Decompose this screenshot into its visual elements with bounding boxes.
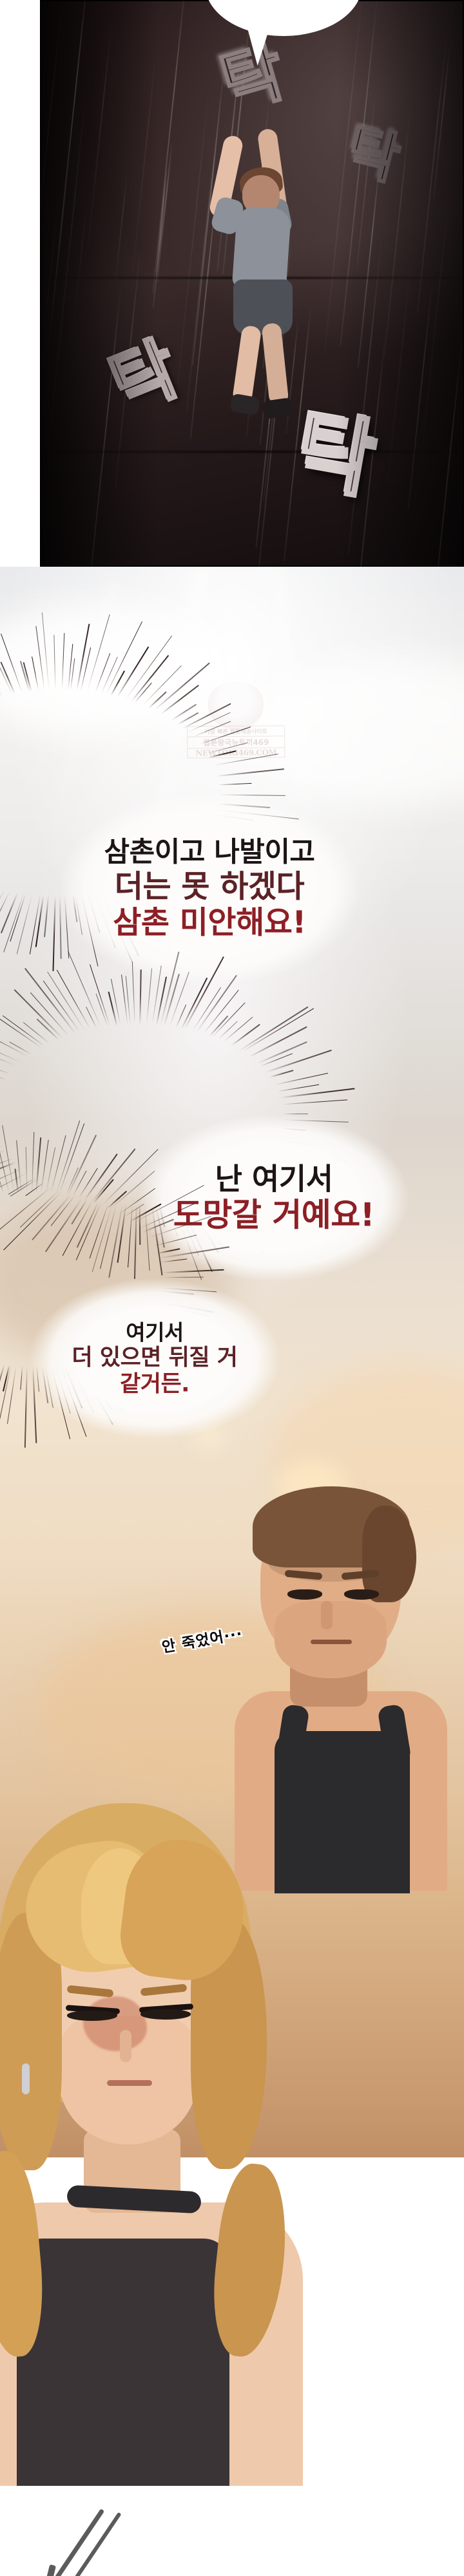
watermark-mascot-icon <box>208 682 264 730</box>
speech-bubble-3: 여기서 더 있으면 뒤질 거 같거든. <box>29 1278 280 1439</box>
watermark-line-3: NEWTOKI469.COM <box>187 748 285 758</box>
bubble-1-line-3: 삼촌 미안해요! <box>58 905 361 941</box>
runner-shorts <box>233 279 293 335</box>
bubble-1-line-2: 더는 못 하겠다 <box>58 869 361 905</box>
man-eye-right <box>344 1589 379 1600</box>
bubble-2-line-2: 도망갈 거예요! <box>139 1197 409 1234</box>
man-mouth <box>311 1640 352 1644</box>
runner-shoe-left <box>229 393 260 415</box>
floor-line-2 <box>40 451 464 453</box>
man-eye-left <box>287 1589 322 1600</box>
man-tank-top <box>275 1731 410 1893</box>
bubble-3-line-1: 여기서 <box>29 1320 280 1345</box>
runner-leg-right <box>261 323 289 405</box>
bubble-2-line-1: 난 여기서 <box>139 1162 409 1196</box>
speech-bubble-1: 삼촌이고 나발이고 더는 못 하겠다 삼촌 미안해요! <box>58 792 361 985</box>
runner-leg-left <box>232 325 262 404</box>
runner-shoe-right <box>262 397 293 419</box>
man-nose <box>321 1601 333 1629</box>
girl-top <box>17 2239 229 2486</box>
bubble-3-line-3: 같거든. <box>29 1371 280 1397</box>
bubble-1-line-1: 삼촌이고 나발이고 <box>58 837 361 869</box>
girl-eye-left <box>67 2011 117 2021</box>
girl-nose <box>120 2030 131 2062</box>
running-figure <box>180 122 322 431</box>
runner-torso <box>232 205 292 292</box>
girl-mouth <box>107 2080 152 2086</box>
girl-eye-right <box>140 2009 191 2020</box>
panel-dark-rooftop: 탁 탁 탁 탁 <box>40 0 464 567</box>
girl-earring <box>22 2063 30 2094</box>
character-blonde-girl <box>0 1803 290 2486</box>
speech-bubble-1-text: 삼촌이고 나발이고 더는 못 하겠다 삼촌 미안해요! <box>58 837 361 940</box>
webtoon-page: 탁 탁 탁 탁 있잖아... 삼촌이고 나발이고 더는 못 하겠다 삼촌 미안해… <box>0 0 464 2576</box>
site-watermark: 가장 빠른 웹툰제공사이트 웹툰왕국뉴토끼469 NEWTOKI469.COM <box>186 681 285 758</box>
speech-bubble-3-text: 여기서 더 있으면 뒤질 거 같거든. <box>29 1320 280 1397</box>
bubble-3-line-2: 더 있으면 뒤질 거 <box>29 1345 280 1372</box>
